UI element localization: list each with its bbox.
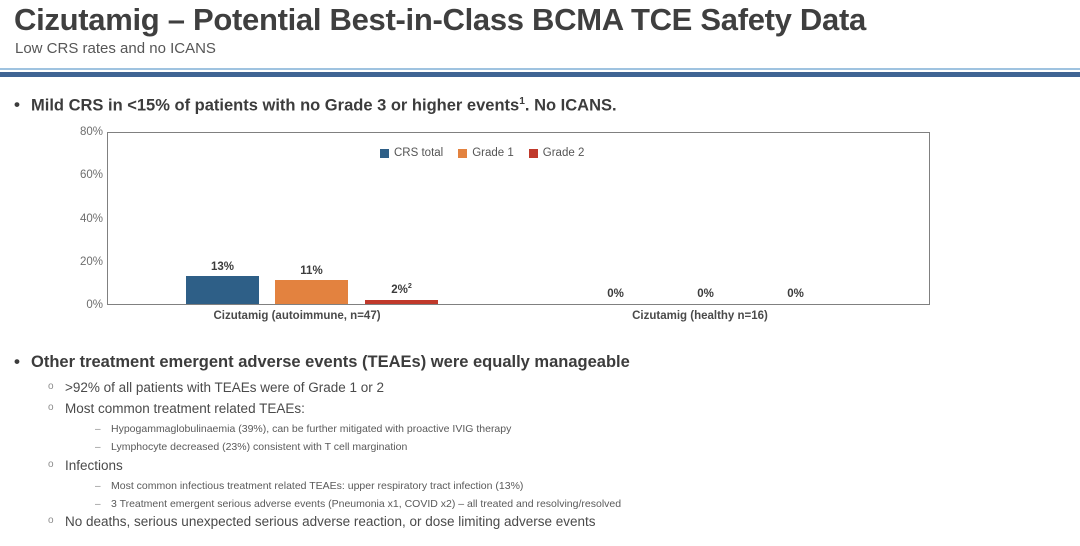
page-title: Cizutamig – Potential Best-in-Class BCMA… <box>14 2 866 38</box>
slide: Cizutamig – Potential Best-in-Class BCMA… <box>0 0 1080 546</box>
footnote-ref-2: 2 <box>408 282 412 290</box>
bullet-marker: • <box>14 353 31 370</box>
detail-bullet-lymphocyte-decreased: – Lymphocyte decreased (23%) consistent … <box>95 441 407 454</box>
bar-grade2-autoimmune <box>365 300 438 304</box>
sub-bullet-text: No deaths, serious unexpected serious ad… <box>65 514 596 529</box>
bar-label-crs-total-autoimmune: 13% <box>186 261 259 273</box>
bar-crs-total-autoimmune <box>186 276 259 304</box>
y-tick-40: 40% <box>57 213 103 225</box>
bullet-marker: • <box>14 96 31 113</box>
page-subtitle: Low CRS rates and no ICANS <box>15 40 216 57</box>
detail-bullet-respiratory-infection: – Most common infectious treatment relat… <box>95 480 523 493</box>
sub-bullet-marker: o <box>48 458 65 473</box>
sub-bullet-text: >92% of all patients with TEAEs were of … <box>65 380 384 395</box>
dash-marker: – <box>95 423 111 436</box>
chart-legend: CRS total Grade 1 Grade 2 <box>380 147 584 159</box>
bar-label-crs-total-healthy: 0% <box>579 288 652 300</box>
sub-bullet-marker: o <box>48 401 65 416</box>
bullet-crs-headline-text: Mild CRS in <15% of patients with no Gra… <box>31 96 617 116</box>
dash-marker: – <box>95 498 111 511</box>
dash-marker: – <box>95 480 111 493</box>
bar-label-grade2-autoimmune: 2%2 <box>365 282 438 296</box>
legend-item-grade-1: Grade 1 <box>458 147 514 159</box>
slide-header: Cizutamig – Potential Best-in-Class BCMA… <box>0 0 1080 78</box>
bar-grade1-autoimmune <box>275 280 348 304</box>
legend-label: CRS total <box>394 147 443 159</box>
detail-bullet-hypogammaglobulinaemia: – Hypogammaglobulinaemia (39%), can be f… <box>95 423 511 436</box>
detail-bullet-text: Most common infectious treatment related… <box>111 480 523 492</box>
x-category-label-healthy: Cizutamig (healthy n=16) <box>570 310 830 322</box>
bar-label-grade2-healthy: 0% <box>759 288 832 300</box>
sub-bullet-grade-1-or-2: o >92% of all patients with TEAEs were o… <box>48 380 384 395</box>
sub-bullet-common-teaes: o Most common treatment related TEAEs: <box>48 401 305 416</box>
y-axis: 0% 20% 40% 60% 80% <box>55 132 103 305</box>
y-tick-20: 20% <box>57 256 103 268</box>
divider-dark-line <box>0 72 1080 77</box>
sub-bullet-marker: o <box>48 380 65 395</box>
sub-bullet-infections: o Infections <box>48 458 123 473</box>
y-tick-0: 0% <box>57 299 103 311</box>
legend-swatch-icon <box>380 149 389 158</box>
legend-label: Grade 1 <box>472 147 514 159</box>
y-tick-60: 60% <box>57 169 103 181</box>
legend-swatch-icon <box>529 149 538 158</box>
bar-label-grade1-healthy: 0% <box>669 288 742 300</box>
legend-label: Grade 2 <box>543 147 585 159</box>
sub-bullet-no-deaths: o No deaths, serious unexpected serious … <box>48 514 596 529</box>
legend-item-grade-2: Grade 2 <box>529 147 585 159</box>
y-tick-80: 80% <box>57 126 103 138</box>
detail-bullet-text: Hypogammaglobulinaemia (39%), can be fur… <box>111 423 511 435</box>
legend-swatch-icon <box>458 149 467 158</box>
legend-item-crs-total: CRS total <box>380 147 443 159</box>
dash-marker: – <box>95 441 111 454</box>
bullet-teae-headline-text: Other treatment emergent adverse events … <box>31 353 630 372</box>
crs-bar-chart: 0% 20% 40% 60% 80% CRS total Grade 1 <box>55 120 945 335</box>
plot-area: CRS total Grade 1 Grade 2 13% 11% 2%2 0% <box>107 132 930 305</box>
sub-bullet-marker: o <box>48 514 65 529</box>
bar-label-grade1-autoimmune: 11% <box>275 265 348 277</box>
sub-bullet-text: Infections <box>65 458 123 473</box>
bullet-crs-headline: • Mild CRS in <15% of patients with no G… <box>14 96 617 116</box>
header-divider <box>0 68 1080 78</box>
bullet-teae-headline: • Other treatment emergent adverse event… <box>14 353 630 372</box>
x-category-label-autoimmune: Cizutamig (autoimmune, n=47) <box>167 310 427 322</box>
detail-bullet-text: Lymphocyte decreased (23%) consistent wi… <box>111 441 407 453</box>
detail-bullet-serious-adverse-events: – 3 Treatment emergent serious adverse e… <box>95 498 621 511</box>
sub-bullet-text: Most common treatment related TEAEs: <box>65 401 305 416</box>
detail-bullet-text: 3 Treatment emergent serious adverse eve… <box>111 498 621 510</box>
